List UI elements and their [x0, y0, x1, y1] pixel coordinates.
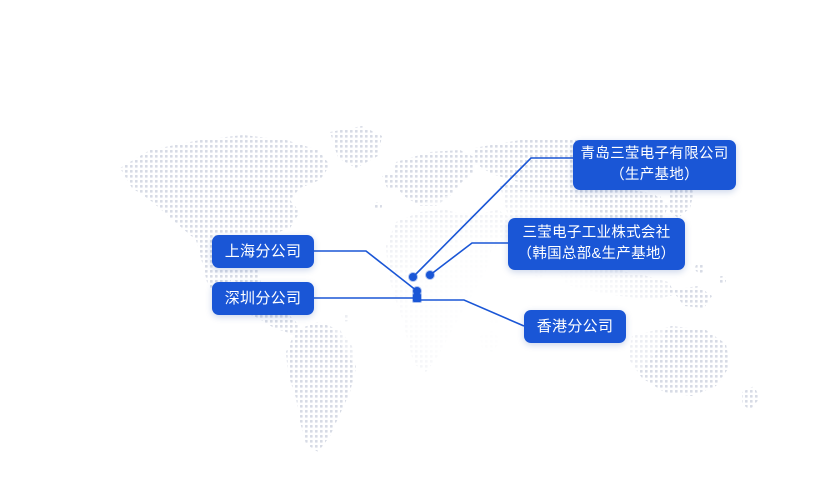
- map-marker-qingdao[interactable]: [409, 273, 417, 281]
- connector-lines: [0, 0, 824, 480]
- map-infographic: 青岛三莹电子有限公司 （生产基地） 三莹电子工业株式会社 （韩国总部&生产基地）…: [0, 0, 824, 480]
- label-shanghai-text: 上海分公司: [225, 241, 302, 262]
- label-korea-hq-line1: 三莹电子工业株式会社: [523, 223, 671, 244]
- label-qingdao[interactable]: 青岛三莹电子有限公司 （生产基地）: [573, 140, 736, 190]
- label-qingdao-line2: （生产基地）: [610, 165, 699, 186]
- label-hongkong[interactable]: 香港分公司: [524, 310, 626, 343]
- label-hongkong-text: 香港分公司: [537, 316, 614, 337]
- map-marker-korea[interactable]: [426, 271, 434, 279]
- connector-shanghai: [314, 251, 417, 291]
- label-qingdao-line1: 青岛三莹电子有限公司: [581, 144, 729, 165]
- label-korea-hq-line2: （韩国总部&生产基地）: [518, 244, 676, 265]
- label-shanghai[interactable]: 上海分公司: [212, 235, 314, 268]
- label-korea-hq[interactable]: 三莹电子工业株式会社 （韩国总部&生产基地）: [508, 218, 685, 270]
- label-shenzhen[interactable]: 深圳分公司: [212, 282, 314, 315]
- map-marker-shenzhen[interactable]: [413, 294, 421, 302]
- connector-hongkong: [417, 300, 524, 326]
- label-shenzhen-text: 深圳分公司: [225, 288, 302, 309]
